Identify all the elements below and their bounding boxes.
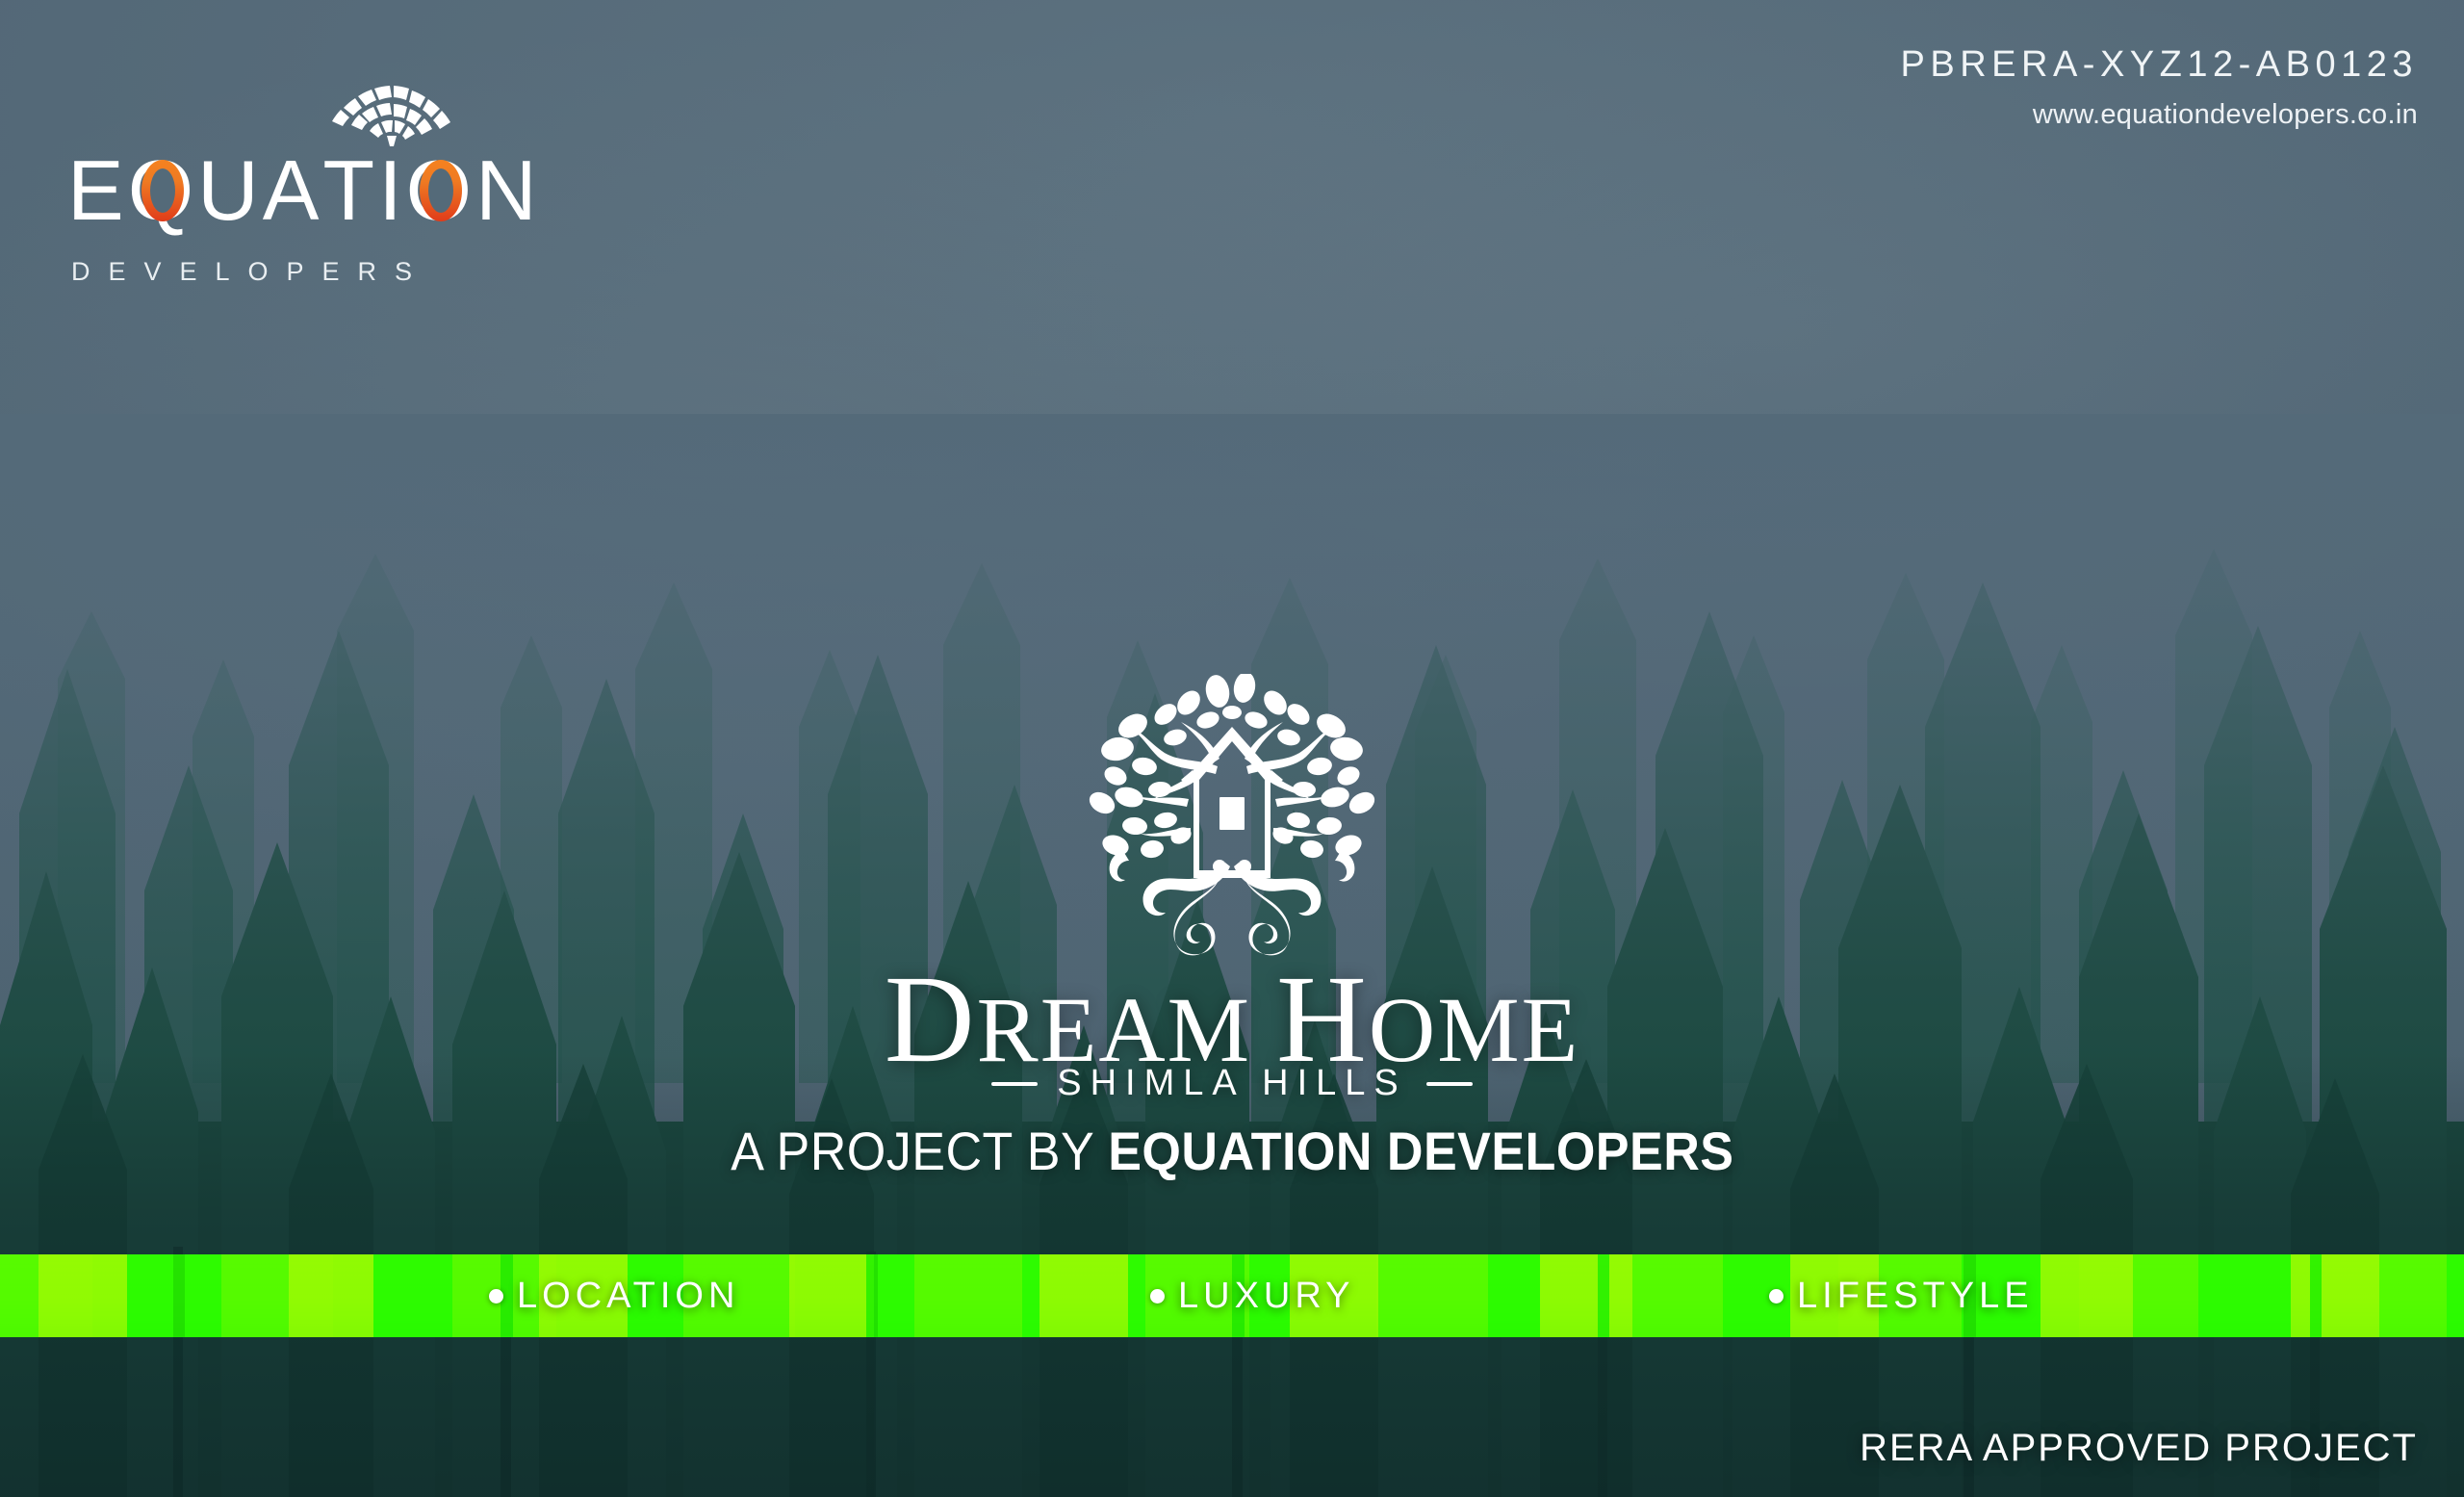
rera-approved-badge: RERA APPROVED PROJECT — [1860, 1427, 2418, 1470]
dash-left-icon — [991, 1082, 1038, 1086]
feature-item-luxury[interactable]: LUXURY — [1150, 1276, 1354, 1317]
brand-wordmark: EQUATION — [67, 152, 541, 228]
project-subtitle: SHIMLA HILLS — [1057, 1063, 1407, 1104]
bullet-dot-icon — [1769, 1289, 1784, 1303]
brand-tagline: DEVELOPERS — [71, 257, 430, 287]
hero-lockup: DREAM HOME SHIMLA HILLS A PROJECT BY EQU… — [0, 674, 2464, 1196]
subtitle-row: SHIMLA HILLS — [991, 1063, 1473, 1104]
title-cap-d: D — [885, 950, 977, 1089]
project-byline: A PROJECT BY EQUATION DEVELOPERS — [731, 1120, 1733, 1182]
feature-item-location[interactable]: LOCATION — [489, 1276, 739, 1317]
website-url[interactable]: www.equationdevelopers.co.in — [2033, 99, 2418, 131]
byline-prefix: A PROJECT BY — [731, 1121, 1093, 1181]
brand-letter-e: E — [67, 152, 128, 228]
feature-label-location: LOCATION — [517, 1276, 739, 1317]
bullet-dot-icon — [489, 1289, 503, 1303]
brand-letter-n: N — [475, 152, 541, 228]
wifi-arc-svg — [329, 50, 454, 151]
poster-canvas: EQUATION DEVELOPERS PBRERA-XYZ12-AB0123 … — [0, 0, 2464, 1497]
company-logo[interactable]: EQUATION DEVELOPERS — [40, 29, 579, 270]
brand-letter-u: U — [197, 152, 263, 228]
brand-letter-i: I — [378, 152, 405, 228]
brand-letter-t: T — [322, 152, 378, 228]
wifi-signal-arc-icon — [329, 50, 454, 151]
brand-letter-q: Q — [128, 152, 197, 228]
feature-label-lifestyle: LIFESTYLE — [1797, 1276, 2034, 1317]
feature-item-lifestyle[interactable]: LIFESTYLE — [1769, 1276, 2034, 1317]
feature-label-luxury: LUXURY — [1178, 1276, 1354, 1317]
crest-svg — [1073, 674, 1391, 963]
rera-registration-number: PBRERA-XYZ12-AB0123 — [1901, 44, 2418, 86]
bullet-dot-icon — [1150, 1289, 1165, 1303]
house-with-foliage-crest-icon — [1073, 674, 1391, 963]
brand-letter-o: O — [406, 152, 475, 228]
dash-right-icon — [1426, 1082, 1473, 1086]
byline-brand: EQUATION DEVELOPERS — [1108, 1121, 1733, 1181]
feature-list: LOCATION LUXURY LIFESTYLE — [0, 1254, 2464, 1337]
brand-letter-a: A — [263, 152, 323, 228]
